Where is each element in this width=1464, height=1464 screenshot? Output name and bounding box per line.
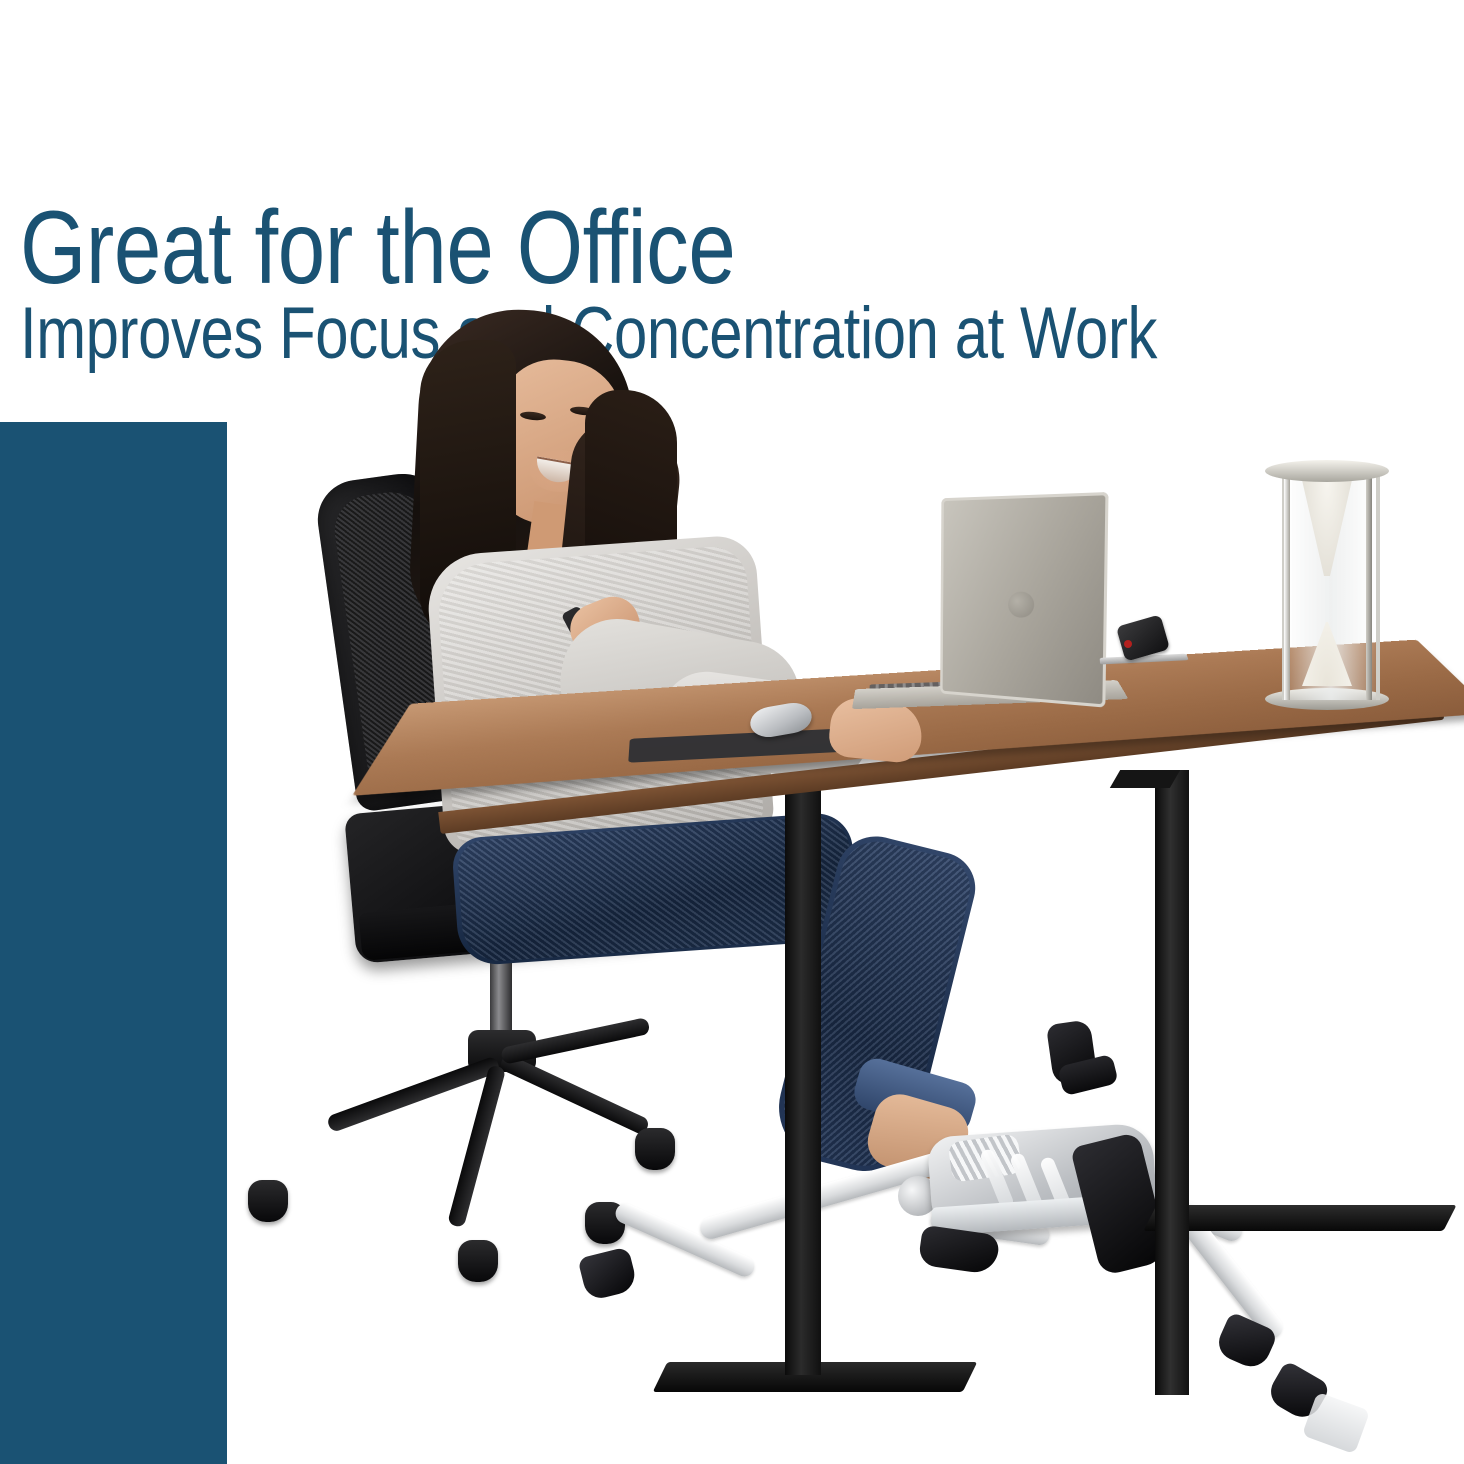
hourglass-post <box>1366 468 1372 700</box>
pedal-exerciser-end-cap <box>577 1246 638 1301</box>
laptop-lid-group <box>923 488 1138 716</box>
hourglass-post <box>1284 468 1290 700</box>
desk-foot-right <box>1143 1205 1456 1231</box>
brand-accent-band <box>0 422 227 1464</box>
desk-leg-right <box>1155 770 1189 1395</box>
chair-base-spoke <box>498 1053 650 1136</box>
chair-caster <box>458 1240 498 1282</box>
hourglass-cap <box>1265 460 1389 482</box>
chair-caster <box>635 1128 675 1170</box>
chair-caster <box>248 1180 288 1222</box>
product-scene-photo <box>230 300 1464 1464</box>
desk-leg-left <box>785 790 821 1375</box>
promotional-banner: Great for the Office Improves Focus and … <box>0 0 1464 1464</box>
page-title: Great for the Office <box>20 196 735 300</box>
desk-frame-beam <box>1110 770 1180 788</box>
device-led-icon <box>1124 640 1132 648</box>
chair-base-spoke <box>447 1064 506 1228</box>
